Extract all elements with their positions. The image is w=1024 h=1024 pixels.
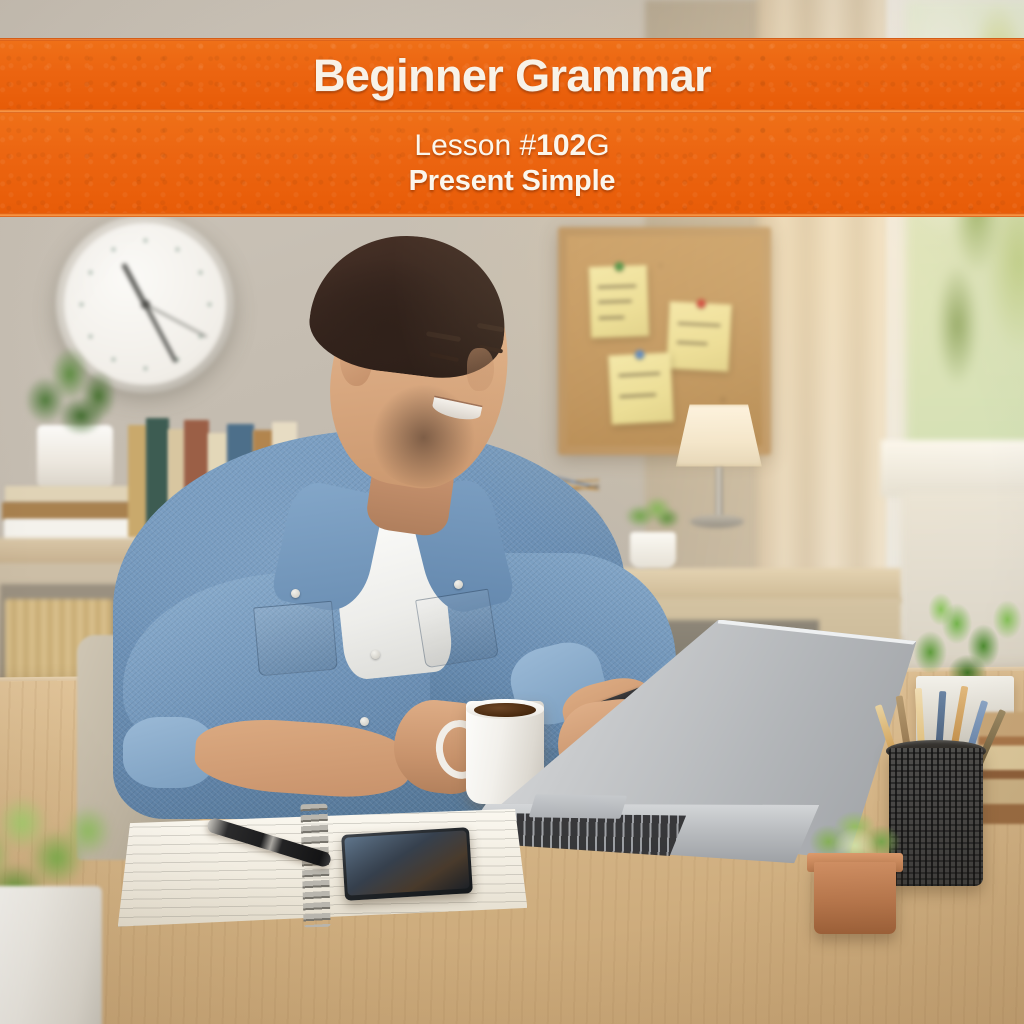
foreground-plant-pot xyxy=(0,886,102,1024)
sticky-note xyxy=(608,352,674,424)
pushpin-icon xyxy=(635,350,644,359)
shirt-button xyxy=(291,589,300,598)
clock-center-pin xyxy=(141,300,150,309)
book xyxy=(128,425,148,538)
shirt-button xyxy=(371,650,380,659)
back-plant-pot xyxy=(630,532,676,568)
book-stack xyxy=(2,502,140,520)
smartphone-screen xyxy=(344,831,469,896)
lesson-topic-label: Present Simple xyxy=(409,165,616,197)
potted-plant-foliage xyxy=(25,348,127,435)
sticky-note xyxy=(589,265,650,338)
lesson-thumbnail: Beginner Grammar Lesson #102G Present Si… xyxy=(0,0,1024,1024)
pushpin-icon xyxy=(615,262,624,271)
lesson-prefix: Lesson # xyxy=(414,129,536,162)
lesson-suffix: G xyxy=(586,129,609,162)
shirt-pocket xyxy=(253,601,337,676)
lesson-title-banner: Beginner Grammar Lesson #102G Present Si… xyxy=(0,38,1024,217)
page-title: Beginner Grammar xyxy=(313,53,711,98)
pushpin-icon xyxy=(697,299,706,308)
table-lamp-neck xyxy=(715,467,723,517)
smartphone[interactable] xyxy=(341,828,473,901)
book-stack xyxy=(5,486,138,501)
banner-title-row: Beginner Grammar xyxy=(0,41,1024,109)
terracotta-pot xyxy=(814,862,896,934)
clock-hour-hand xyxy=(122,262,148,305)
banner-bottom-trim xyxy=(0,213,1024,217)
lesson-number-label: Lesson #102G xyxy=(414,129,609,163)
shirt-pocket xyxy=(415,589,498,668)
window-sill xyxy=(881,440,1024,496)
shirt-button xyxy=(454,580,463,589)
sticky-note xyxy=(667,302,733,372)
person-nose xyxy=(467,348,494,391)
lesson-number: 102 xyxy=(536,129,586,162)
laptop-trackpad[interactable] xyxy=(529,794,628,818)
banner-subtitle-row: Lesson #102G Present Simple xyxy=(0,113,1024,213)
back-plant-foliage xyxy=(625,495,679,529)
table-lamp-shade xyxy=(676,404,762,466)
